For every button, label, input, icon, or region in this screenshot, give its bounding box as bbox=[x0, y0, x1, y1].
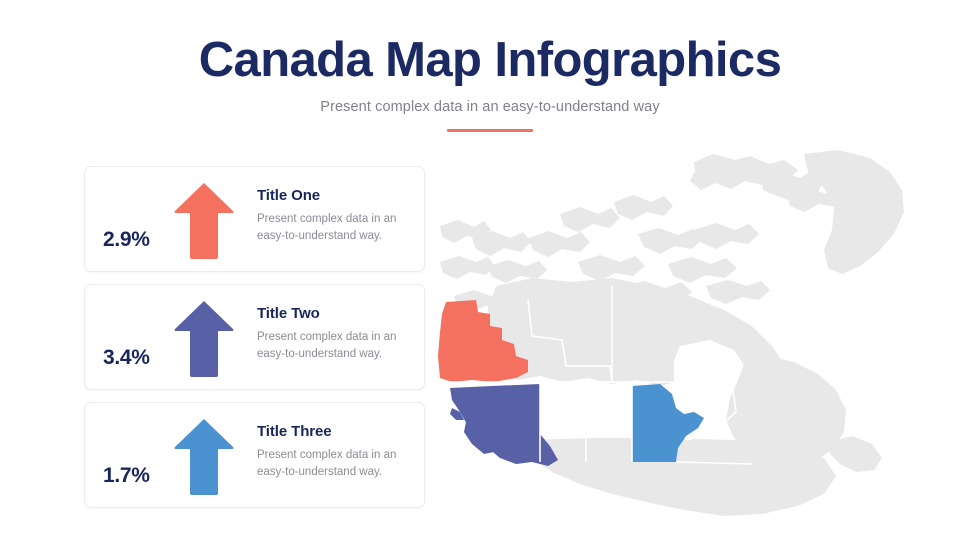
stat-value: 3.4% bbox=[103, 346, 150, 370]
map-greenland bbox=[804, 150, 904, 274]
arrow-up-icon bbox=[173, 417, 235, 497]
slide-canvas: Canada Map Infographics Present complex … bbox=[0, 0, 980, 551]
stat-value: 2.9% bbox=[103, 228, 150, 252]
map-maritimes bbox=[830, 436, 882, 472]
stat-card[interactable]: 1.7% Title Three Present complex data in… bbox=[84, 402, 425, 508]
stat-card-description: Present complex data in an easy-to-under… bbox=[257, 329, 409, 362]
stat-card-list: 2.9% Title One Present complex data in a… bbox=[84, 166, 425, 520]
stat-card-text: Title One Present complex data in an eas… bbox=[257, 187, 409, 244]
stat-card[interactable]: 3.4% Title Two Present complex data in a… bbox=[84, 284, 425, 390]
stat-value: 1.7% bbox=[103, 464, 150, 488]
stat-card-text: Title Two Present complex data in an eas… bbox=[257, 305, 409, 362]
stat-card-title: Title Three bbox=[257, 423, 409, 440]
stat-card-title: Title One bbox=[257, 187, 409, 204]
canada-map[interactable] bbox=[432, 150, 980, 551]
page-title: Canada Map Infographics bbox=[0, 34, 980, 87]
arrow-up-icon bbox=[173, 181, 235, 261]
stat-card-text: Title Three Present complex data in an e… bbox=[257, 423, 409, 480]
map-united-states bbox=[528, 438, 836, 516]
accent-underline bbox=[447, 129, 533, 132]
arrow-up-icon bbox=[173, 299, 235, 379]
stat-card-title: Title Two bbox=[257, 305, 409, 322]
stat-card-description: Present complex data in an easy-to-under… bbox=[257, 211, 409, 244]
page-subtitle: Present complex data in an easy-to-under… bbox=[0, 99, 980, 115]
header: Canada Map Infographics Present complex … bbox=[0, 34, 980, 132]
stat-card-description: Present complex data in an easy-to-under… bbox=[257, 447, 409, 480]
stat-card[interactable]: 2.9% Title One Present complex data in a… bbox=[84, 166, 425, 272]
